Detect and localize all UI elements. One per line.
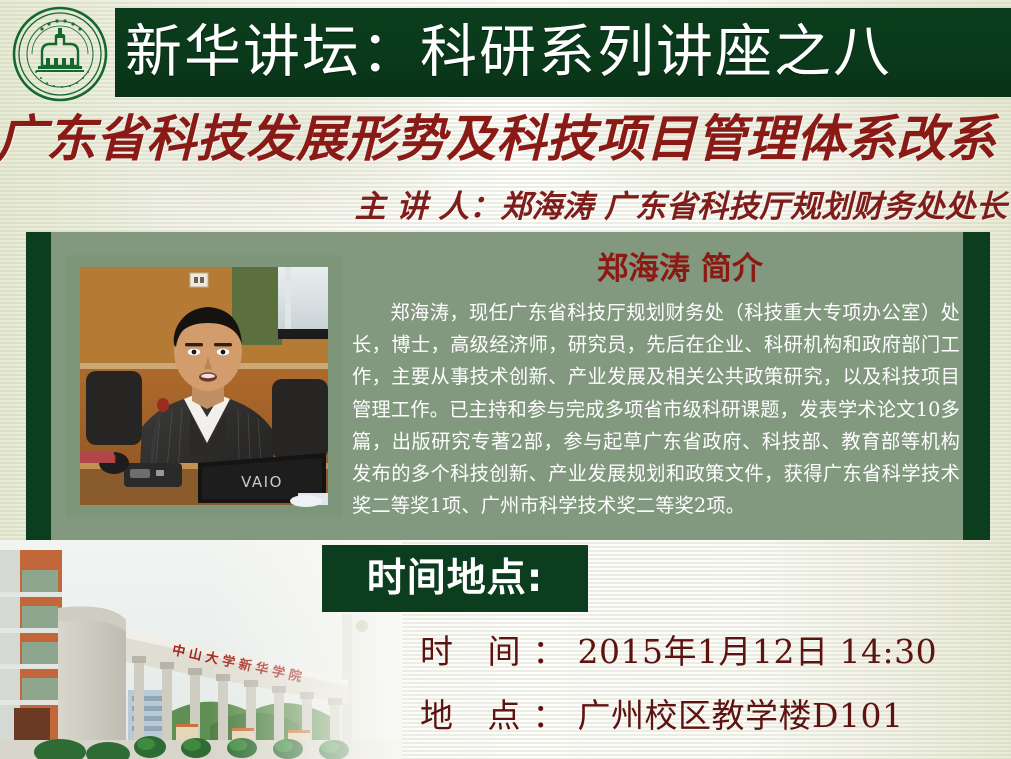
svg-text:VAIO: VAIO bbox=[241, 473, 283, 491]
time-place-details: 时 间：2015年1月12日 14:30 地 点：广州校区教学楼D101 bbox=[420, 620, 1000, 748]
poster-root: 新华讲坛：科研系列讲座之八 广东省科技发展形势及科技项目管理体系改系 主 讲 人… bbox=[0, 0, 1011, 759]
time-row: 时 间：2015年1月12日 14:30 bbox=[420, 620, 1000, 684]
time-row-key: 时 间： bbox=[420, 632, 578, 671]
place-row-key: 地 点： bbox=[420, 696, 578, 735]
bio-panel-left-accent-bar bbox=[26, 232, 51, 540]
presenter-line: 主 讲 人：郑海涛 广东省科技厅规划财务处处长 bbox=[355, 190, 1007, 224]
page-title: 新华讲坛：科研系列讲座之八 bbox=[115, 24, 892, 81]
lecture-subtitle: 广东省科技发展形势及科技项目管理体系改系 bbox=[0, 112, 1011, 166]
place-row-value: 广州校区教学楼D101 bbox=[578, 696, 904, 735]
bio-panel-right-accent-bar bbox=[963, 232, 990, 540]
xinhua-college-sysu-emblem-icon bbox=[12, 6, 108, 102]
time-row-value: 2015年1月12日 14:30 bbox=[578, 632, 938, 671]
header-title-bar: 新华讲坛：科研系列讲座之八 bbox=[115, 8, 1011, 97]
bio-body-text: 郑海涛，现任广东省科技厅规划财务处（科技重大专项办公室）处长，博士，高级经济师，… bbox=[352, 297, 960, 522]
time-place-banner: 时间地点: bbox=[322, 545, 588, 612]
time-place-label: 时间地点: bbox=[367, 559, 544, 598]
speaker-photo-frame: VAIO bbox=[66, 255, 342, 517]
place-row: 地 点：广州校区教学楼D101 bbox=[420, 684, 1000, 748]
bio-heading: 郑海涛 简介 bbox=[520, 252, 840, 286]
speaker-photo: VAIO bbox=[66, 255, 342, 517]
